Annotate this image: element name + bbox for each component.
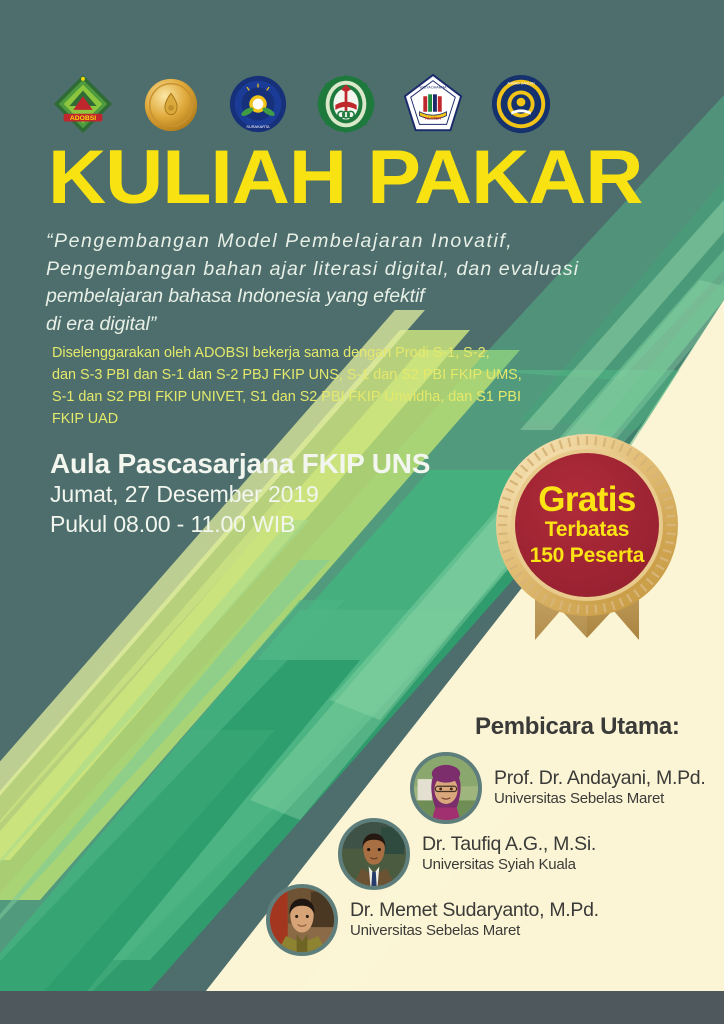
quote-line-2: Pengembangan bahan ajar literasi digital… bbox=[46, 256, 646, 284]
speakers-section-title: Pembicara Utama: bbox=[475, 713, 680, 741]
organizer-line-3: S-1 dan S2 PBI FKIP UNIVET, S1 dan S2 PB… bbox=[52, 387, 522, 409]
speaker-affiliation: Universitas Sebelas Maret bbox=[350, 922, 599, 939]
speaker-item: Prof. Dr. Andayani, M.Pd. Universitas Se… bbox=[410, 752, 705, 824]
svg-text:KLATEN: KLATEN bbox=[425, 116, 441, 121]
organizer-line-1: Diselenggarakan oleh ADOBSI bekerja sama… bbox=[52, 343, 522, 365]
quote-line-1: “Pengembangan Model Pembelajaran Inovati… bbox=[46, 228, 646, 256]
univet-logo bbox=[315, 73, 377, 135]
speaker-photo-andayani bbox=[410, 752, 482, 824]
event-time: Pukul 08.00 - 11.00 WIB bbox=[50, 510, 430, 540]
svg-text:WIDYA DHARMA: WIDYA DHARMA bbox=[420, 86, 448, 90]
svg-text:AHMAD DAHLAN: AHMAD DAHLAN bbox=[507, 82, 535, 86]
speaker-name: Prof. Dr. Andayani, M.Pd. bbox=[494, 768, 705, 790]
universitas-widya-dharma-klaten-logo: KLATEN WIDYA DHARMA bbox=[402, 73, 464, 135]
organizer-block: Diselenggarakan oleh ADOBSI bekerja sama… bbox=[52, 343, 522, 431]
svg-text:SURAKARTA: SURAKARTA bbox=[247, 124, 271, 129]
poster-canvas: ADOBSI bbox=[0, 0, 724, 1024]
event-date: Jumat, 27 Desember 2019 bbox=[50, 480, 430, 510]
gratis-badge: Gratis Terbatas 150 Peserta bbox=[487, 432, 687, 654]
speaker-info: Dr. Memet Sudaryanto, M.Pd. Universitas … bbox=[350, 900, 599, 939]
logo-row: ADOBSI bbox=[52, 68, 552, 140]
speaker-info: Prof. Dr. Andayani, M.Pd. Universitas Se… bbox=[494, 768, 705, 807]
svg-text:ADOBSI: ADOBSI bbox=[70, 115, 96, 122]
organizer-line-2: dan S-3 PBI dan S-1 dan S-2 PBJ FKIP UNS… bbox=[52, 365, 522, 387]
gold-seal-logo bbox=[140, 73, 202, 135]
poster-headline: KULIAH PAKAR bbox=[48, 142, 642, 215]
adobsi-logo: ADOBSI bbox=[52, 73, 114, 135]
quote-line-3: pembelajaran bahasa Indonesia yang efekt… bbox=[46, 283, 646, 311]
speaker-info: Dr. Taufiq A.G., M.Si. Universitas Syiah… bbox=[422, 834, 596, 873]
universitas-ahmad-dahlan-logo: AHMAD DAHLAN bbox=[490, 73, 552, 135]
event-venue: Aula Pascasarjana FKIP UNS bbox=[50, 447, 430, 480]
speaker-affiliation: Universitas Syiah Kuala bbox=[422, 856, 596, 873]
speaker-photo-memet bbox=[266, 884, 338, 956]
speaker-name: Dr. Taufiq A.G., M.Si. bbox=[422, 834, 596, 856]
speaker-item: Dr. Memet Sudaryanto, M.Pd. Universitas … bbox=[266, 884, 599, 956]
speaker-photo-taufiq bbox=[338, 818, 410, 890]
poster-subtitle-quote: “Pengembangan Model Pembelajaran Inovati… bbox=[46, 228, 646, 339]
speaker-item: Dr. Taufiq A.G., M.Si. Universitas Syiah… bbox=[338, 818, 596, 890]
footer-bar bbox=[0, 991, 724, 1024]
quote-line-4: di era digital” bbox=[46, 311, 646, 339]
universitas-muhammadiyah-surakarta-logo: SURAKARTA bbox=[227, 73, 289, 135]
organizer-line-4: FKIP UAD bbox=[52, 409, 522, 431]
speaker-affiliation: Universitas Sebelas Maret bbox=[494, 790, 705, 807]
speaker-name: Dr. Memet Sudaryanto, M.Pd. bbox=[350, 900, 599, 922]
event-details-block: Aula Pascasarjana FKIP UNS Jumat, 27 Des… bbox=[50, 447, 430, 540]
